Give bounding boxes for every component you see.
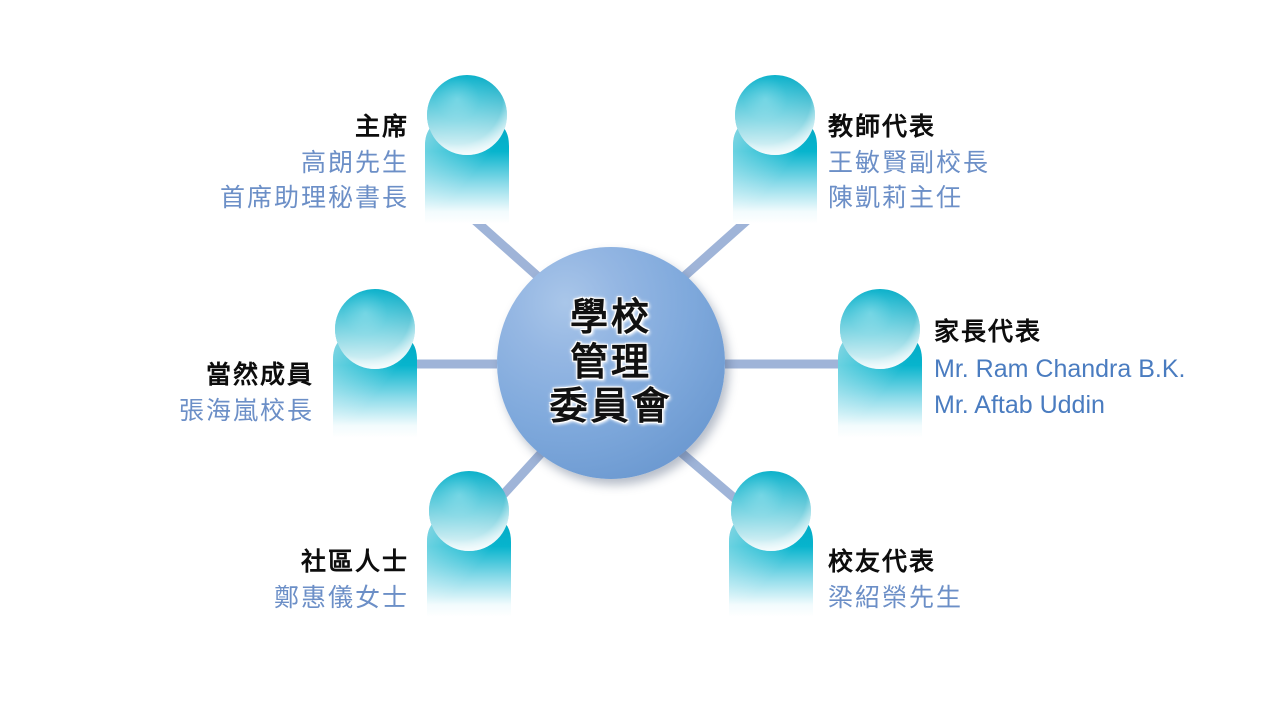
organisation-diagram: 學校 管理 委員會 主席 高朗先生 首席助理秘書長 教師代表 王敏賢副校長 陳凱… [0, 0, 1280, 720]
person-icon-alumni-rep [729, 471, 813, 617]
center-node-school-management-committee[interactable]: 學校 管理 委員會 [497, 247, 725, 479]
center-node-line-2: 管理 [570, 341, 652, 386]
node-member-community-1: 鄭惠儀女士 [104, 581, 409, 617]
node-member-chairperson-1: 高朗先生 [104, 146, 409, 182]
node-role-ex-officio: 當然成員 [104, 358, 314, 394]
center-node-line-1: 學校 [570, 296, 652, 341]
person-icon-teacher-rep [733, 75, 817, 224]
node-role-parent-rep: 家長代表 [934, 315, 1264, 351]
node-label-ex-officio[interactable]: 當然成員 張海嵐校長 [104, 358, 314, 429]
connector-teacher-rep [679, 216, 752, 281]
node-member-ex-officio-1: 張海嵐校長 [104, 394, 314, 430]
person-icon-chairperson [425, 75, 509, 224]
node-member-teacher-rep-2: 陳凱莉主任 [828, 181, 1228, 217]
person-icon-ex-officio [333, 289, 417, 438]
node-role-alumni-rep: 校友代表 [828, 545, 1128, 581]
node-role-community: 社區人士 [104, 545, 409, 581]
node-role-chairperson: 主席 [104, 110, 409, 146]
node-member-chairperson-2: 首席助理秘書長 [104, 181, 409, 217]
node-member-parent-rep-2: Mr. Aftab Uddin [934, 387, 1264, 423]
node-label-community[interactable]: 社區人士 鄭惠儀女士 [104, 545, 409, 616]
connector-chairperson [470, 216, 543, 281]
node-label-chairperson[interactable]: 主席 高朗先生 首席助理秘書長 [104, 110, 409, 217]
node-member-teacher-rep-1: 王敏賢副校長 [828, 146, 1228, 182]
node-member-parent-rep-1: Mr. Ram Chandra B.K. [934, 351, 1264, 387]
person-icon-parent-rep [838, 289, 922, 438]
node-label-teacher-rep[interactable]: 教師代表 王敏賢副校長 陳凱莉主任 [828, 110, 1228, 217]
node-label-parent-rep[interactable]: 家長代表 Mr. Ram Chandra B.K. Mr. Aftab Uddi… [934, 315, 1264, 423]
node-label-alumni-rep[interactable]: 校友代表 梁紹榮先生 [828, 545, 1128, 616]
node-role-teacher-rep: 教師代表 [828, 110, 1228, 146]
person-icon-community [427, 471, 511, 617]
node-member-alumni-rep-1: 梁紹榮先生 [828, 581, 1128, 617]
center-node-line-3: 委員會 [549, 385, 672, 430]
